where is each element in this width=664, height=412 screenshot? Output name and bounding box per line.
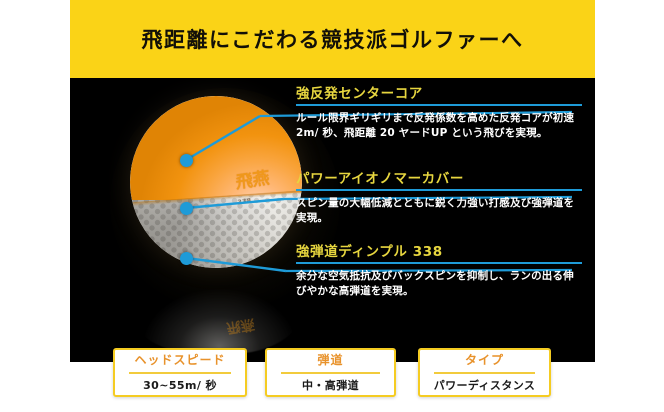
callout-title: 強反発センターコア [296, 82, 582, 102]
spec-label: タイプ [465, 352, 504, 368]
spec-value: 30~55m/ 秒 [143, 378, 217, 393]
callout-title: パワーアイオノマーカバー [296, 167, 582, 187]
spec-value: 中・高弾道 [302, 378, 359, 393]
ball-reflection [130, 266, 302, 354]
callout-dot-core [180, 154, 193, 167]
page-title: 飛距離にこだわる競技派ゴルファーへ [141, 24, 523, 54]
callout-underline [296, 189, 582, 191]
spec-box-head-speed: ヘッドスピード 30~55m/ 秒 [113, 348, 247, 397]
spec-divider [434, 372, 535, 374]
callout-dot-cover [180, 202, 193, 215]
callout-underline [296, 262, 582, 264]
promo-infographic: 飛距離にこだわる競技派ゴルファーへ 飛燕 338 飛燕 [0, 0, 664, 412]
golf-ball-illustration: 飛燕 338 飛燕 [112, 90, 322, 358]
callout-cover: パワーアイオノマーカバー スピン量の大幅低減とともに鋭く力強い打感及び強弾道を実… [296, 167, 582, 226]
callout-body: スピン量の大幅低減とともに鋭く力強い打感及び強弾道を実現。 [296, 196, 582, 226]
callout-dot-dimple [180, 252, 193, 265]
spec-value: パワーディスタンス [434, 378, 536, 393]
callout-title: 強弾道ディンプル 338 [296, 240, 582, 260]
spec-divider [129, 372, 230, 374]
header-banner: 飛距離にこだわる競技派ゴルファーへ [70, 0, 595, 78]
ball-logo: 飛燕 338 [235, 166, 297, 249]
spec-divider [281, 372, 380, 374]
callout-body: 余分な空気抵抗及びバックスピンを抑制し、ランの出る伸びやかな高弾道を実現。 [296, 269, 582, 299]
product-detail-panel: 飛燕 338 飛燕 強反発センターコア ルール限界ギリギリまで反発係数を高めた反… [70, 78, 595, 362]
spec-box-trajectory: 弾道 中・高弾道 [265, 348, 396, 397]
spec-label: 弾道 [317, 352, 343, 368]
spec-box-type: タイプ パワーディスタンス [418, 348, 551, 397]
golf-ball: 飛燕 338 [130, 96, 302, 268]
callout-underline [296, 104, 582, 106]
callout-core: 強反発センターコア ルール限界ギリギリまで反発係数を高めた反発コアが初速 2m/… [296, 82, 582, 141]
callout-body: ルール限界ギリギリまで反発係数を高めた反発コアが初速 2m/ 秒、飛距離 20 … [296, 111, 582, 141]
spec-label: ヘッドスピード [134, 352, 225, 368]
ball-reflection-logo: 飛燕 [221, 282, 278, 335]
callout-dimple: 強弾道ディンプル 338 余分な空気抵抗及びバックスピンを抑制し、ランの出る伸び… [296, 240, 582, 299]
